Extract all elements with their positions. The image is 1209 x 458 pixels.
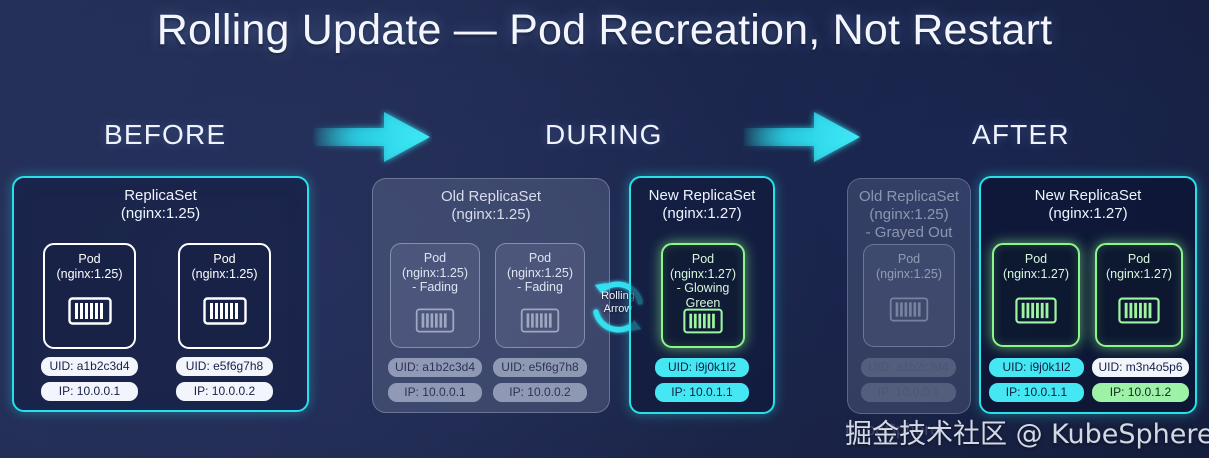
watermark: 掘金技术社区 @ KubeSphere: [845, 412, 1209, 451]
pod-ip-badge: IP: 10.0.0.2: [493, 383, 587, 402]
replicaset-title: Old ReplicaSet (nginx:1.25) - Grayed Out: [848, 179, 970, 242]
container-barcode-icon: [68, 297, 112, 325]
pod-card[interactable]: Pod (nginx:1.25): [43, 243, 136, 349]
stage-caption-after: AFTER: [972, 119, 1070, 151]
pod-label: Pod (nginx:1.25) - Fading: [496, 244, 584, 295]
pod-card[interactable]: Pod (nginx:1.27) - Glowing Green: [661, 243, 745, 348]
right-arrow-icon: [312, 106, 432, 168]
pod-label: Pod (nginx:1.25): [864, 245, 954, 281]
replicaset-title: ReplicaSet (nginx:1.25): [14, 178, 307, 223]
pod-label: Pod (nginx:1.27): [1097, 245, 1181, 281]
pod-label: Pod (nginx:1.25): [45, 245, 134, 281]
right-arrow-icon: [742, 106, 862, 168]
pod-uid-badge: UID: a1b2c3d4: [41, 357, 138, 376]
pod-uid-badge: UID: a1b2c3d4: [388, 358, 482, 377]
pod-label: Pod (nginx:1.27) - Glowing Green: [663, 245, 743, 310]
pod-uid-badge: UID: m3n4o5p6: [1092, 358, 1189, 377]
replicaset-title: New ReplicaSet (nginx:1.27): [981, 178, 1195, 223]
pod-ip-badge: IP: 10.0.0.1: [861, 383, 956, 402]
pod-card[interactable]: Pod (nginx:1.25) - Fading: [495, 243, 585, 348]
slide-canvas: Rolling Update — Pod Recreation, Not Res…: [0, 0, 1209, 458]
pod-uid-badge: UID: e5f6g7h8: [176, 357, 273, 376]
pod-card[interactable]: Pod (nginx:1.25): [178, 243, 271, 349]
pod-uid-badge: UID: a1b2c3d4: [861, 358, 956, 377]
stage-caption-during: DURING: [545, 119, 663, 151]
pod-label: Pod (nginx:1.27): [994, 245, 1078, 281]
page-title: Rolling Update — Pod Recreation, Not Res…: [0, 6, 1209, 55]
replicaset-title: Old ReplicaSet (nginx:1.25): [373, 179, 609, 224]
container-barcode-icon: [683, 308, 723, 334]
container-barcode-icon: [415, 308, 455, 333]
pod-ip-badge: IP: 10.0.1.1: [655, 383, 749, 402]
pod-label: Pod (nginx:1.25) - Fading: [391, 244, 479, 295]
pod-card[interactable]: Pod (nginx:1.27): [992, 243, 1080, 347]
pod-uid-badge: UID: e5f6g7h8: [493, 358, 587, 377]
stage-caption-before: BEFORE: [104, 119, 226, 151]
pod-ip-badge: IP: 10.0.1.2: [1092, 383, 1189, 402]
container-barcode-icon: [1118, 297, 1160, 324]
container-barcode-icon: [520, 308, 560, 333]
pod-label: Pod (nginx:1.25): [180, 245, 269, 281]
pod-card[interactable]: Pod (nginx:1.25) - Fading: [390, 243, 480, 348]
pod-card[interactable]: Pod (nginx:1.27): [1095, 243, 1183, 347]
pod-card[interactable]: Pod (nginx:1.25): [863, 244, 955, 347]
container-barcode-icon: [1015, 297, 1057, 324]
pod-ip-badge: IP: 10.0.0.2: [176, 382, 273, 401]
pod-uid-badge: UID: i9j0k1l2: [655, 358, 749, 377]
container-barcode-icon: [203, 297, 247, 325]
replicaset-title: New ReplicaSet (nginx:1.27): [631, 178, 773, 223]
pod-ip-badge: IP: 10.0.0.1: [388, 383, 482, 402]
pod-ip-badge: IP: 10.0.0.1: [41, 382, 138, 401]
pod-uid-badge: UID: i9j0k1l2: [989, 358, 1084, 377]
pod-ip-badge: IP: 10.0.1.1: [989, 383, 1084, 402]
container-barcode-icon: [889, 297, 929, 322]
